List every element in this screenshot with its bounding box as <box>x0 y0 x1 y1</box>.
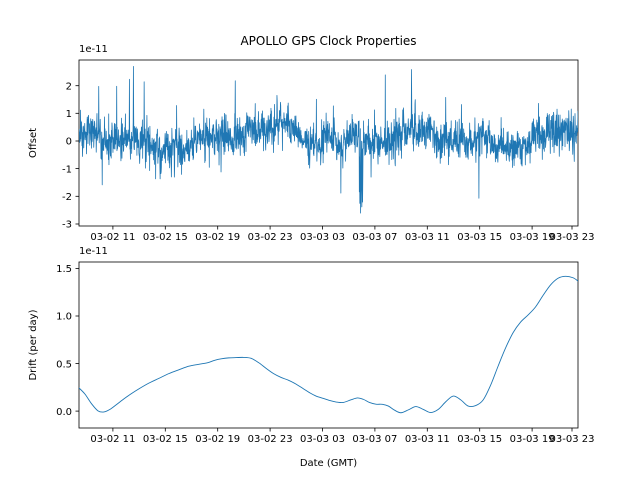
drift-xtick-5: 03-03 07 <box>352 434 397 445</box>
offset-ylabel: Offset <box>28 128 39 158</box>
drift-xtick-1: 03-02 15 <box>143 434 188 445</box>
offset-ytick-m2: -2 <box>62 192 72 203</box>
offset-xtick-6: 03-03 11 <box>405 232 450 243</box>
offset-ytick-1: 1 <box>66 109 72 120</box>
offset-ytick-0: 0 <box>66 137 72 148</box>
offset-xtick-2: 03-02 19 <box>195 232 240 243</box>
offset-xtick-9: 03-03 23 <box>550 232 595 243</box>
drift-xlabel: Date (GMT) <box>300 458 357 469</box>
offset-ytick-m3: -3 <box>62 220 72 231</box>
drift-xtick-7: 03-03 15 <box>457 434 502 445</box>
offset-xtick-1: 03-02 15 <box>143 232 188 243</box>
drift-ytick-15: 1.5 <box>56 264 72 275</box>
figure-canvas: APOLLO GPS Clock Properties 1e-11 2 1 0 … <box>0 0 640 480</box>
drift-xtick-9: 03-03 23 <box>550 434 595 445</box>
offset-xtick-8: 03-03 19 <box>510 232 555 243</box>
drift-ytick-00: 0.0 <box>56 407 72 418</box>
drift-ylabel: Drift (per day) <box>28 309 39 380</box>
offset-xtick-5: 03-03 07 <box>352 232 397 243</box>
offset-ytick-m1: -1 <box>62 164 72 175</box>
drift-xtick-4: 03-03 03 <box>300 434 345 445</box>
drift-xtick-0: 03-02 11 <box>90 434 135 445</box>
offset-ytick-2: 2 <box>66 81 72 92</box>
matplotlib-figure: APOLLO GPS Clock Properties 1e-11 2 1 0 … <box>0 0 640 480</box>
chart-title: APOLLO GPS Clock Properties <box>240 34 416 48</box>
drift-xtick-2: 03-02 19 <box>195 434 240 445</box>
drift-ytick-10: 1.0 <box>56 312 72 323</box>
drift-y-exponent-label: 1e-11 <box>79 246 108 257</box>
drift-ytick-05: 0.5 <box>56 359 72 370</box>
drift-xtick-8: 03-03 19 <box>510 434 555 445</box>
drift-xtick-3: 03-02 23 <box>248 434 293 445</box>
offset-xtick-3: 03-02 23 <box>248 232 293 243</box>
offset-xtick-4: 03-03 03 <box>300 232 345 243</box>
offset-y-exponent-label: 1e-11 <box>79 44 108 55</box>
offset-xtick-0: 03-02 11 <box>90 232 135 243</box>
drift-xtick-6: 03-03 11 <box>405 434 450 445</box>
offset-xtick-7: 03-03 15 <box>457 232 502 243</box>
